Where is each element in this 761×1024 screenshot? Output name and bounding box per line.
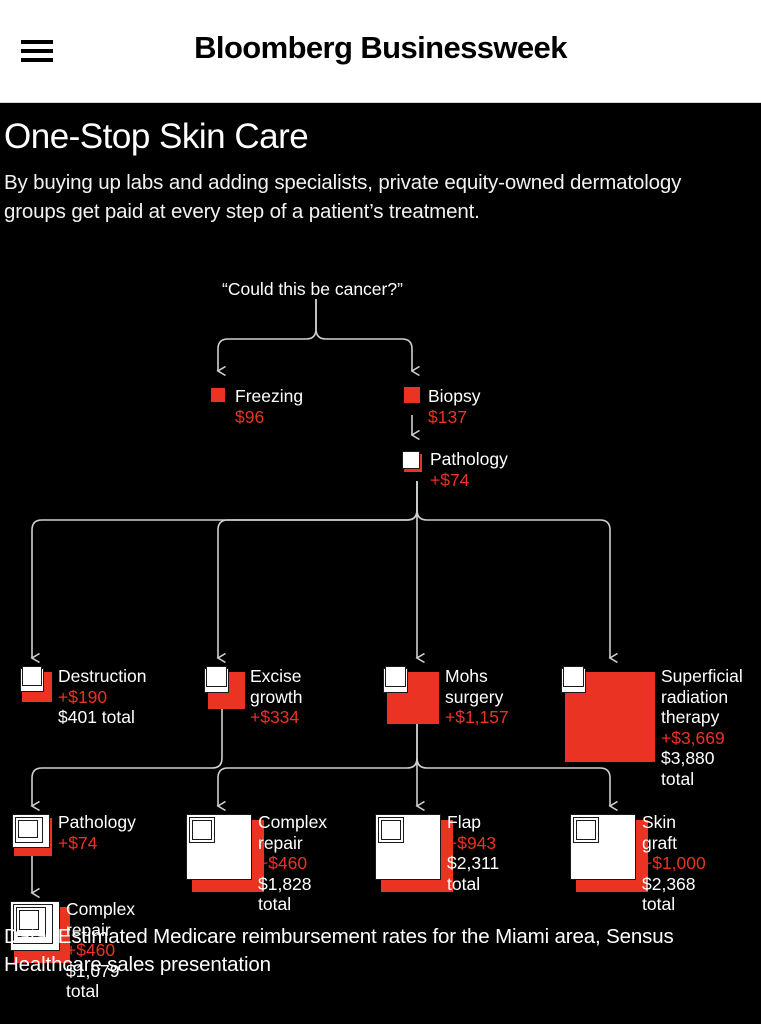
node-label: Biopsy <box>428 386 481 407</box>
node-cost: +$1,157 <box>445 707 509 728</box>
flap-cost-icon <box>375 814 453 892</box>
node-total: $1,828 total <box>258 874 327 915</box>
node-total: $401 total <box>58 707 147 728</box>
biopsy-cost-icon <box>404 386 424 406</box>
pathology-cost-icon <box>402 451 426 475</box>
skin-graft-cost-icon <box>570 814 648 892</box>
excise-growth-cost-icon <box>204 666 246 708</box>
masthead-logo[interactable]: Bloomberg Businessweek <box>0 30 761 66</box>
node-label: Excise growth <box>250 666 303 707</box>
node-cost: +$460 <box>258 853 327 874</box>
node-cost: +$334 <box>250 707 303 728</box>
node-label: Pathology <box>58 812 136 833</box>
node-cost: $96 <box>235 407 303 428</box>
node-label: Complex repair <box>258 812 327 853</box>
node-label: Destruction <box>58 666 147 687</box>
node-total: $2,311 total <box>447 853 499 894</box>
page-title: One-Stop Skin Care <box>4 117 308 157</box>
node-total: $2,368 total <box>642 874 706 915</box>
diagram-root-question: “Could this be cancer?” <box>222 279 403 300</box>
node-total: $3,880 total <box>661 748 743 789</box>
mohs-surgery-cost-icon <box>383 666 441 724</box>
freezing-cost-icon <box>211 386 231 406</box>
node-label: Flap <box>447 812 499 833</box>
node-cost: +$3,669 <box>661 728 743 749</box>
superficial-radiation-therapy-cost-icon <box>561 666 657 762</box>
node-label: Freezing <box>235 386 303 407</box>
node-cost: +$1,000 <box>642 853 706 874</box>
node-cost: $137 <box>428 407 481 428</box>
node-cost: +$74 <box>430 470 508 491</box>
node-cost: +$74 <box>58 833 136 854</box>
node-label: Superficial radiation therapy <box>661 666 743 728</box>
source-note: Data: Estimated Medicare reimbursement r… <box>4 923 744 979</box>
pathology-2-cost-icon <box>12 814 54 856</box>
article-body: One-Stop Skin Care By buying up labs and… <box>0 103 761 1024</box>
node-cost: +$190 <box>58 687 147 708</box>
complex-repair-1-cost-icon <box>186 814 264 892</box>
article-dek: By buying up labs and adding specialists… <box>4 168 734 226</box>
node-label: Pathology <box>430 449 508 470</box>
treatment-cost-flow-diagram: “Could this be cancer?” Freezing $96 Bio… <box>0 253 761 933</box>
node-cost: +$943 <box>447 833 499 854</box>
site-header: Bloomberg Businessweek <box>0 0 761 103</box>
destruction-cost-icon <box>20 666 54 700</box>
node-label: Skin graft <box>642 812 706 853</box>
node-label: Mohs surgery <box>445 666 509 707</box>
